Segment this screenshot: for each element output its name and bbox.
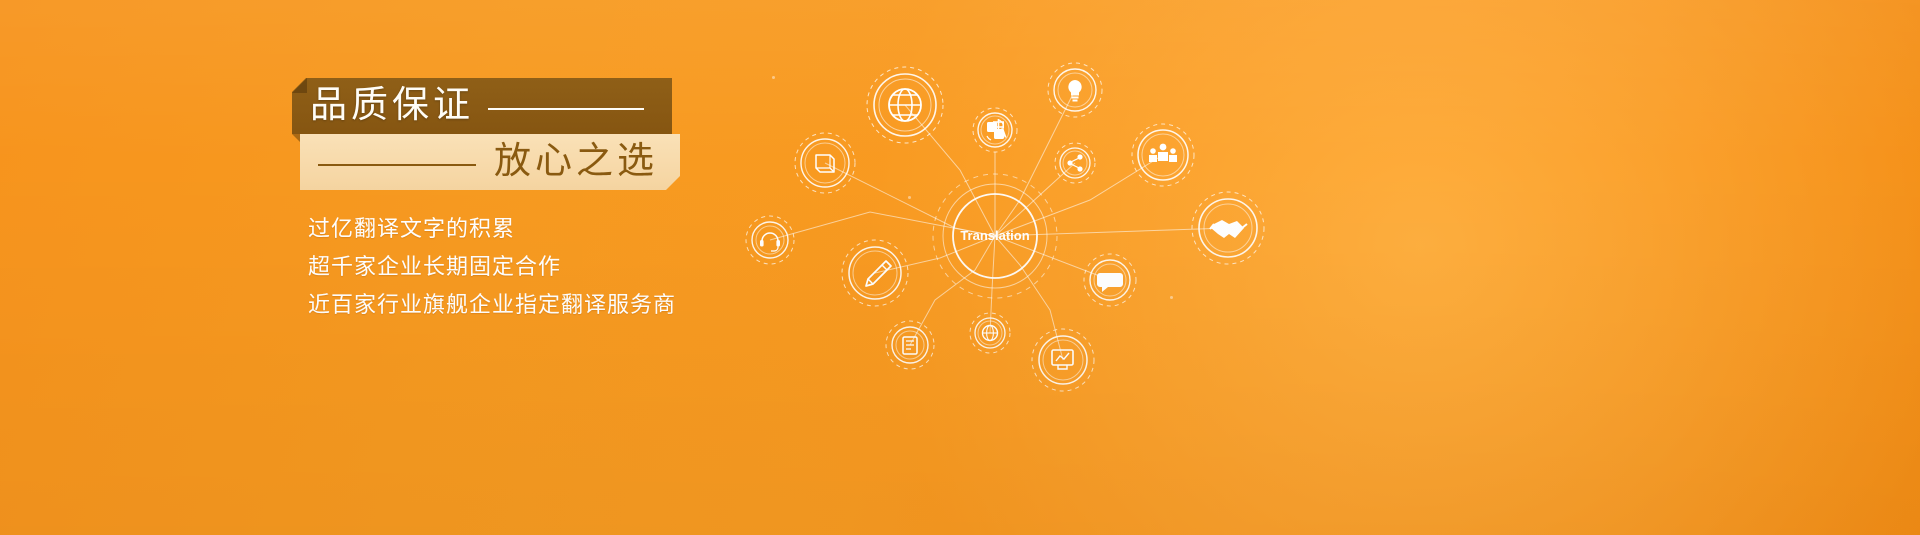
chat-icon	[1084, 254, 1136, 306]
worldwide-icon	[970, 313, 1010, 353]
pencil-icon	[842, 240, 908, 306]
ribbon-top-fold	[292, 78, 307, 93]
ribbon-bottom-text: 放心之选	[494, 137, 658, 187]
globe-icon	[867, 67, 943, 143]
svg-text:A: A	[998, 126, 1008, 141]
decorative-speck	[908, 196, 911, 199]
handshake-icon	[1192, 192, 1264, 264]
promo-banner: 品质保证 放心之选 过亿翻译文字的积累 超千家企业长期固定合作 近百家行业旗舰企…	[0, 0, 1920, 535]
ribbon-top-text: 品质保证	[310, 81, 474, 131]
decorative-speck	[772, 76, 775, 79]
ribbon-top: 品质保证	[292, 78, 672, 134]
ribbon-bottom: 放心之选	[300, 134, 680, 190]
ribbon-top-rule-icon	[488, 108, 644, 110]
list-item: 近百家行业旗舰企业指定翻译服务商	[308, 286, 676, 324]
lightbulb-icon	[1048, 63, 1102, 117]
translation-center-label: Translation	[960, 228, 1029, 243]
translate-icon: 中 A	[973, 108, 1017, 152]
people-icon	[1132, 124, 1194, 186]
list-item: 超千家企业长期固定合作	[308, 248, 676, 286]
translation-network-graphic: 中 A	[720, 0, 1320, 435]
feature-list: 过亿翻译文字的积累 超千家企业长期固定合作 近百家行业旗舰企业指定翻译服务商	[308, 210, 676, 324]
list-item: 过亿翻译文字的积累	[308, 210, 676, 248]
document-icon	[886, 321, 934, 369]
decorative-speck	[1170, 296, 1173, 299]
ribbon-bottom-rule-icon	[318, 164, 476, 166]
ribbon-heading-group: 品质保证 放心之选	[292, 78, 684, 190]
